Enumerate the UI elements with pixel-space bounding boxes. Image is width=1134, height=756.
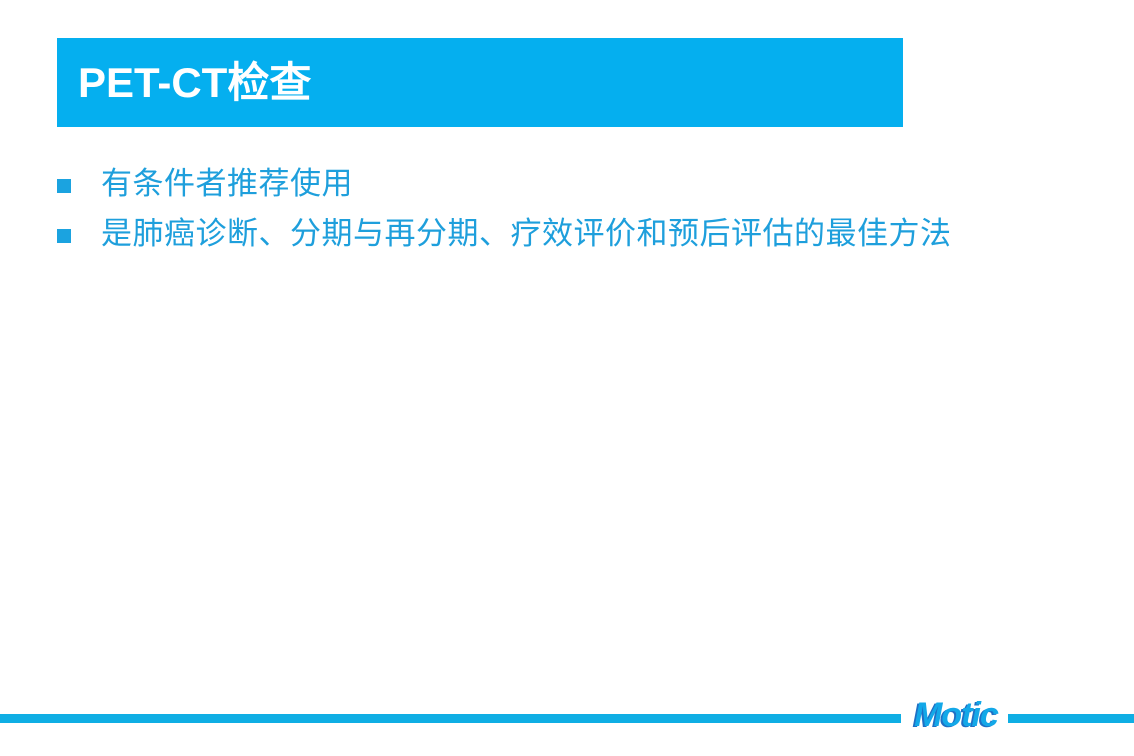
- footer-divider-left: [0, 714, 901, 723]
- square-bullet-icon: [57, 179, 71, 193]
- slide-canvas: PET-CT检查 有条件者推荐使用 是肺癌诊断、分期与再分期、疗效评价和预后评估…: [0, 0, 1134, 756]
- square-bullet-icon: [57, 229, 71, 243]
- brand-logo-label: Motic: [914, 698, 998, 732]
- bullet-item-label: 是肺癌诊断、分期与再分期、疗效评价和预后评估的最佳方法: [71, 212, 952, 256]
- list-item: 是肺癌诊断、分期与再分期、疗效评价和预后评估的最佳方法: [57, 212, 1047, 256]
- page-title: PET-CT检查: [57, 62, 311, 104]
- bullet-item-label: 有条件者推荐使用: [71, 162, 353, 206]
- bullet-list: 有条件者推荐使用 是肺癌诊断、分期与再分期、疗效评价和预后评估的最佳方法: [57, 162, 1047, 262]
- footer-divider-right: [1008, 714, 1134, 723]
- slide-title-banner: PET-CT检查: [57, 38, 903, 127]
- brand-logo: Motic: [906, 694, 1006, 736]
- list-item: 有条件者推荐使用: [57, 162, 1047, 206]
- slide-footer: Motic: [0, 713, 1134, 724]
